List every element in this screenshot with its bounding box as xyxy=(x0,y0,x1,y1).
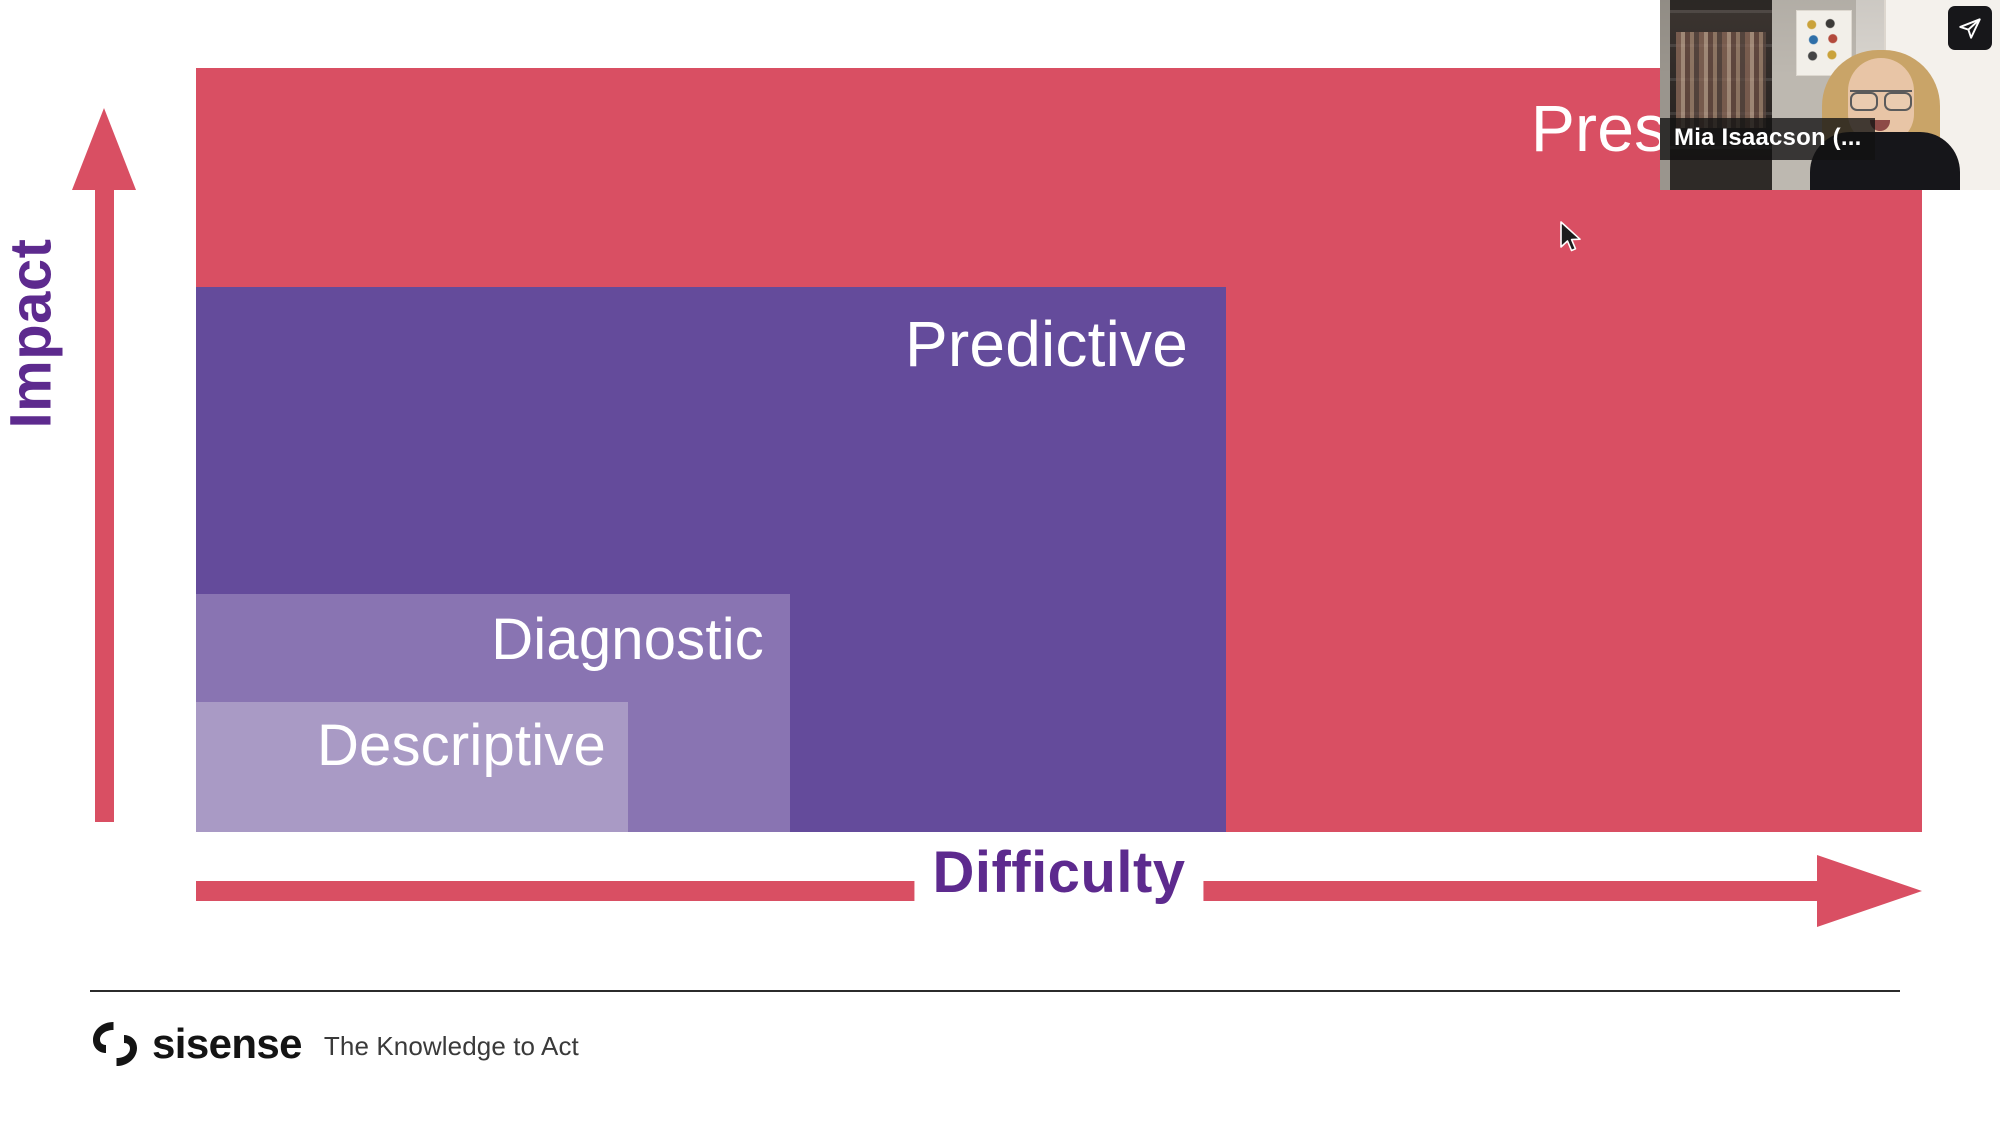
difficulty-axis: Difficulty xyxy=(196,855,1922,927)
sisense-wordmark: sisense xyxy=(152,1020,302,1068)
send-icon[interactable] xyxy=(1948,6,1992,50)
sisense-tagline: The Knowledge to Act xyxy=(324,1026,579,1062)
difficulty-arrow-head-icon xyxy=(1817,855,1922,927)
impact-arrow-shaft xyxy=(95,182,114,822)
video-participant-tile[interactable]: Mia Isaacson (... xyxy=(1660,0,2000,190)
impact-arrow-head-icon xyxy=(72,108,136,190)
impact-axis xyxy=(72,108,136,822)
glasses-icon xyxy=(1850,90,1912,105)
sisense-logo: sisense xyxy=(88,1018,302,1070)
presentation-slide: Prescriptive Predictive Diagnostic Descr… xyxy=(0,0,2000,1121)
slide-footer: sisense The Knowledge to Act xyxy=(88,1018,579,1070)
quadrant-label-descriptive: Descriptive xyxy=(317,702,628,780)
quadrant-label-predictive: Predictive xyxy=(905,287,1226,383)
participant-name-label: Mia Isaacson (... xyxy=(1660,118,1875,160)
sisense-logo-mark-icon xyxy=(88,1018,142,1070)
participant-webcam-image xyxy=(1810,40,1960,190)
quadrant-label-diagnostic: Diagnostic xyxy=(491,594,790,674)
difficulty-axis-label: Difficulty xyxy=(914,839,1203,906)
impact-axis-label: Impact xyxy=(0,204,65,464)
paper-plane-glyph xyxy=(1957,15,1983,41)
footer-divider xyxy=(90,990,1900,992)
quadrant-descriptive: Descriptive xyxy=(196,702,628,832)
